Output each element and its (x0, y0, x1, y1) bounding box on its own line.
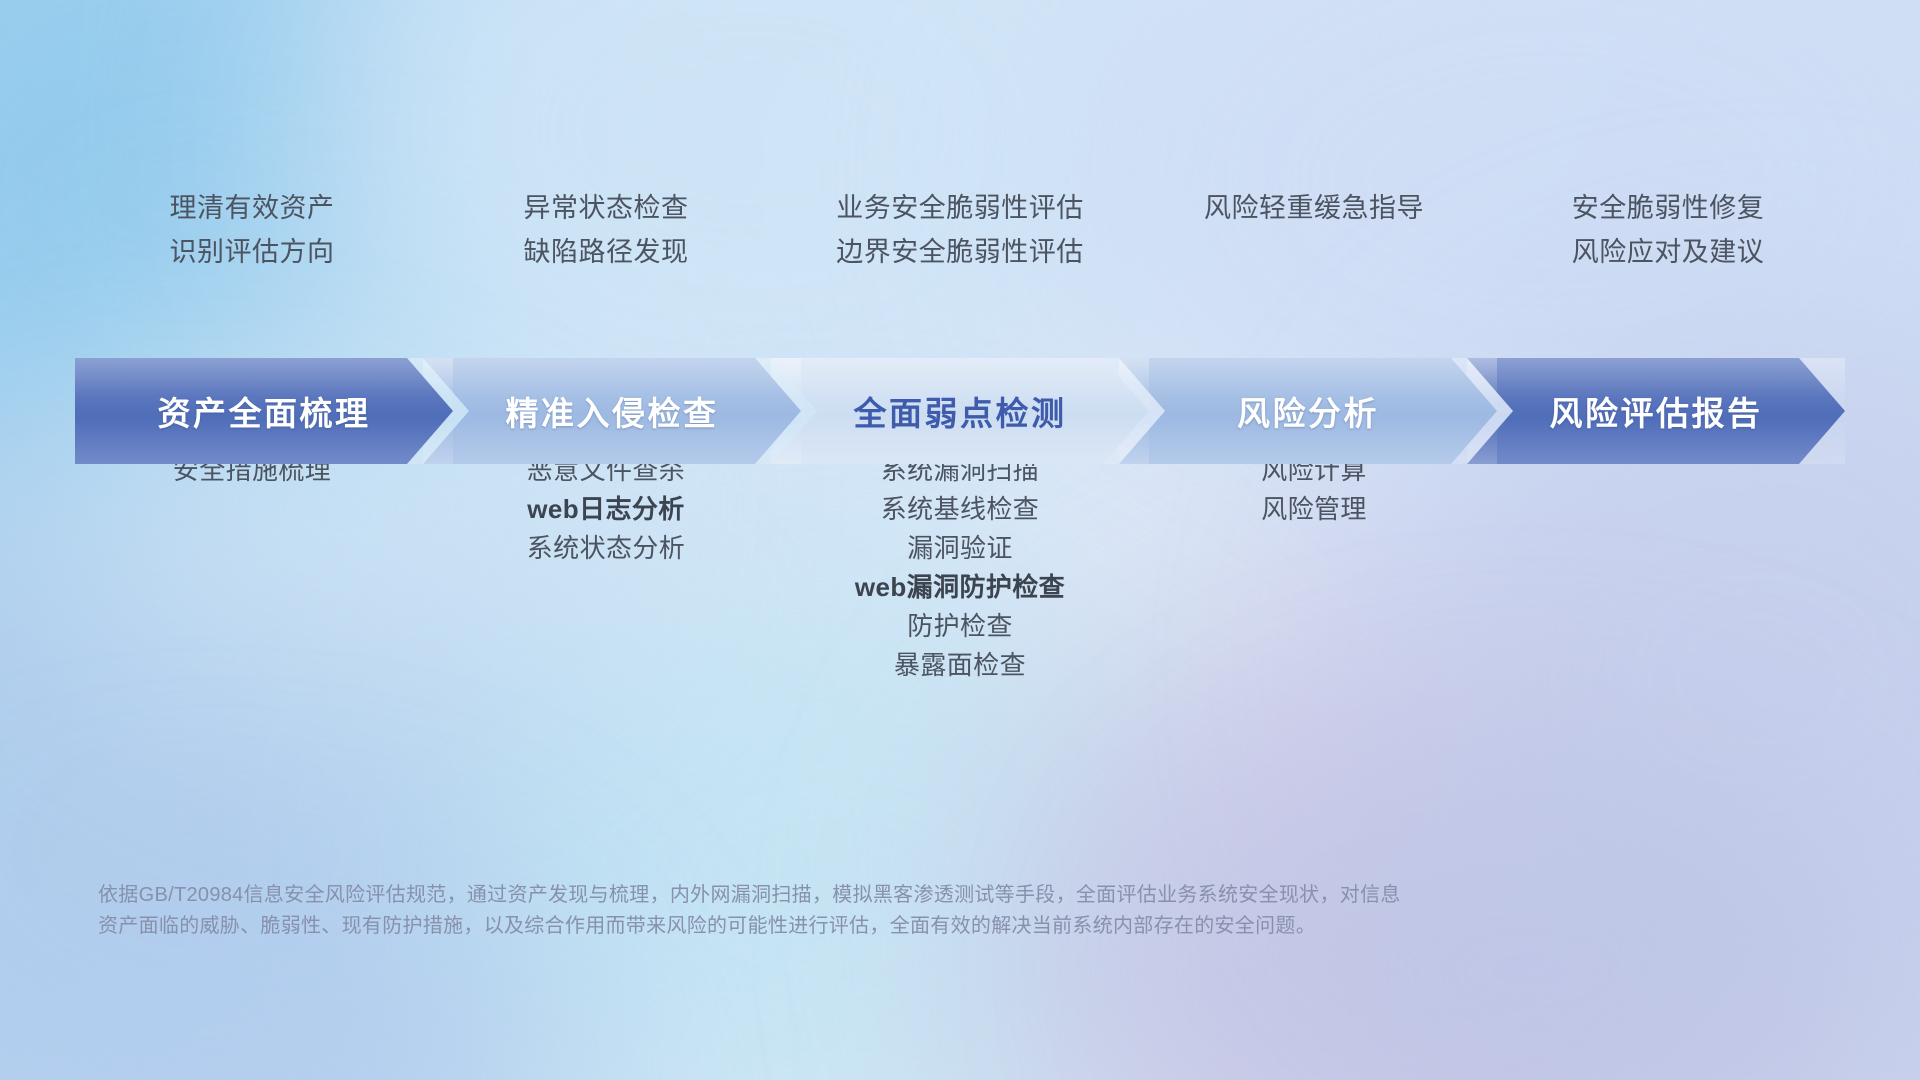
chevron-label: 全面弱点检测 (854, 387, 1067, 435)
top-label: 安全脆弱性修复 (1572, 186, 1765, 230)
top-label: 风险轻重缓急指导 (1204, 186, 1424, 230)
top-labels-stage-4: 风险轻重缓急指导 (1137, 186, 1491, 274)
bottom-label: 防护检查 (907, 607, 1013, 646)
top-label: 理清有效资产 (170, 186, 335, 230)
chevron-stage-5[interactable]: 风险评估报告 (1467, 358, 1845, 464)
chevron-label: 风险评估报告 (1550, 387, 1763, 435)
top-labels-stage-2: 异常状态检查 缺陷路径发现 (429, 186, 783, 274)
footer-line-2: 资产面临的威胁、脆弱性、现有防护措施，以及综合作用而带来风险的可能性进行评估，全… (98, 911, 1658, 942)
top-labels-stage-1: 理清有效资产 识别评估方向 (75, 186, 429, 274)
chevron-stage-4[interactable]: 风险分析 (1119, 358, 1497, 464)
top-label: 业务安全脆弱性评估 (836, 186, 1084, 230)
bottom-label: 暴露面检查 (894, 646, 1026, 685)
top-label: 缺陷路径发现 (524, 230, 689, 274)
chevron-stage-3[interactable]: 全面弱点检测 (771, 358, 1149, 464)
bottom-label: web日志分析 (527, 490, 684, 529)
bottom-label: 系统状态分析 (527, 529, 685, 568)
footer-line-1: 依据GB/T20984信息安全风险评估规范，通过资产发现与梳理，内外网漏洞扫描，… (98, 880, 1658, 911)
chevron-label: 精准入侵检查 (506, 387, 719, 435)
chevron-stage-2[interactable]: 精准入侵检查 (423, 358, 801, 464)
bottom-label: 风险管理 (1261, 490, 1367, 529)
bottom-label: web漏洞防护检查 (855, 568, 1065, 607)
top-labels-stage-5: 安全脆弱性修复 风险应对及建议 (1491, 186, 1845, 274)
chevron-process-band: 资产全面梳理 精准入侵检查 全面弱点检测 风险分析 风险评估报告 (75, 358, 1845, 464)
top-label: 识别评估方向 (170, 230, 335, 274)
top-label: 边界安全脆弱性评估 (836, 230, 1084, 274)
footer-description: 依据GB/T20984信息安全风险评估规范，通过资产发现与梳理，内外网漏洞扫描，… (98, 880, 1658, 942)
top-label-row: 理清有效资产 识别评估方向 异常状态检查 缺陷路径发现 业务安全脆弱性评估 边界… (75, 186, 1845, 274)
process-diagram: 理清有效资产 识别评估方向 异常状态检查 缺陷路径发现 业务安全脆弱性评估 边界… (0, 0, 1920, 1080)
top-labels-stage-3: 业务安全脆弱性评估 边界安全脆弱性评估 (783, 186, 1137, 274)
chevron-stage-1[interactable]: 资产全面梳理 (75, 358, 453, 464)
top-label: 风险应对及建议 (1572, 230, 1765, 274)
chevron-label: 资产全面梳理 (158, 387, 371, 435)
bottom-label: 漏洞验证 (907, 529, 1013, 568)
top-label: 异常状态检查 (524, 186, 689, 230)
bottom-label: 系统基线检查 (881, 490, 1039, 529)
chevron-label: 风险分析 (1237, 387, 1379, 435)
